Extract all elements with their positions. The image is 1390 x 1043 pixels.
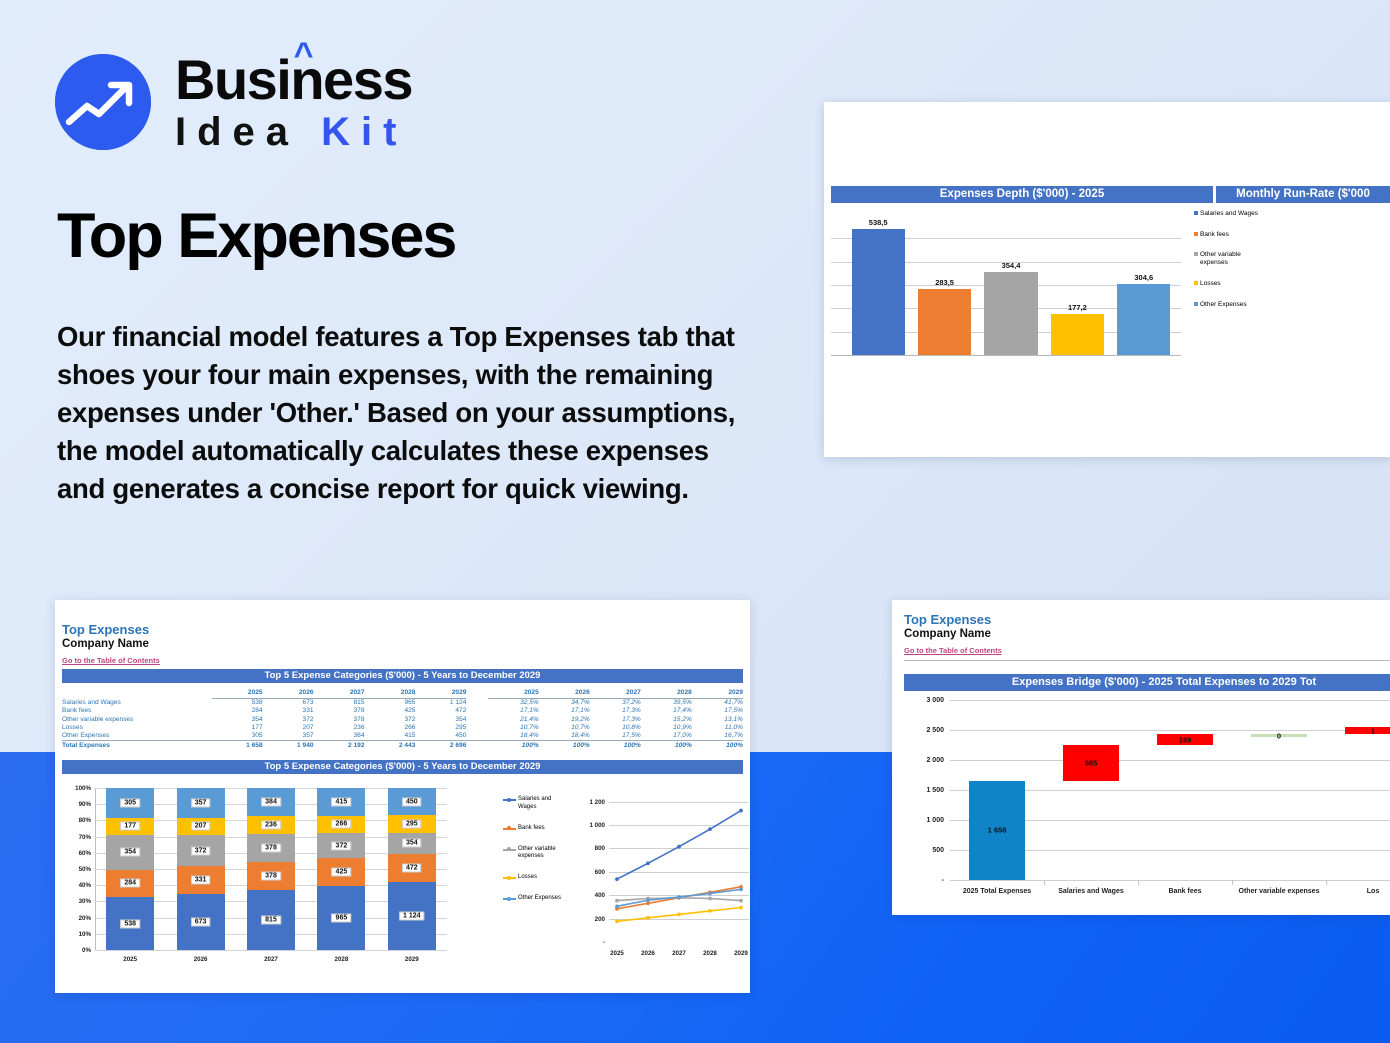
stack-value-label: 472 xyxy=(402,864,422,873)
table-col-year-pct: 2029 xyxy=(692,688,743,698)
total-value: 2 192 xyxy=(314,740,365,749)
row-value: 284 xyxy=(212,707,263,715)
table-total-row: Total Expenses1 6581 9402 1922 4432 6961… xyxy=(62,740,743,749)
x-axis-tick: 2027 xyxy=(247,956,295,963)
row-value: 372 xyxy=(365,715,416,723)
x-axis-tick: Other variable expenses xyxy=(1232,888,1326,895)
bar-value-label: 283,5 xyxy=(918,278,971,287)
x-axis-tick: 2025 xyxy=(106,956,154,963)
y-axis xyxy=(95,788,96,950)
row-value: 207 xyxy=(263,723,314,731)
x-axis-tick: 2026 xyxy=(634,950,662,957)
gridline xyxy=(950,880,1390,881)
row-label: Other Expenses xyxy=(62,731,212,740)
row-pct: 10,7% xyxy=(488,723,539,731)
line-marker xyxy=(739,899,743,903)
stacked-bar-chart: 100%90%80%70%60%50%40%30%20%10%0%5382843… xyxy=(65,780,455,980)
row-pct: 17,3% xyxy=(590,715,641,723)
legend-label: Other variable expenses xyxy=(518,846,563,861)
table-col-year-pct: 2027 xyxy=(590,688,641,698)
row-label: Salaries and Wages xyxy=(62,698,212,707)
y-axis-tick: 2 500 xyxy=(904,727,944,734)
line-marker xyxy=(739,906,743,910)
table-header-row: 2025202620272028202920252026202720282029 xyxy=(62,688,743,698)
stack-value-label: 965 xyxy=(332,914,352,923)
table-col-year-pct: 2026 xyxy=(539,688,590,698)
legend-line xyxy=(503,828,516,830)
stack-value-label: 538 xyxy=(120,919,140,928)
legend-item: Salaries and Wages xyxy=(503,796,563,811)
row-value: 1 124 xyxy=(415,698,466,707)
row-pct: 17,5% xyxy=(590,731,641,740)
waterfall-bar-5 xyxy=(1345,727,1390,734)
x-axis-tick: Los xyxy=(1326,888,1390,895)
stack-value-label: 450 xyxy=(402,797,422,806)
x-axis-tick: Salaries and Wages xyxy=(1044,888,1138,895)
line-marker xyxy=(646,898,650,902)
x-tick-mark xyxy=(1138,880,1139,885)
gridline xyxy=(950,700,1390,701)
row-pct: 21,4% xyxy=(488,715,539,723)
total-label: Total Expenses xyxy=(62,740,212,749)
table-col-year: 2026 xyxy=(263,688,314,698)
row-value: 415 xyxy=(365,731,416,740)
row-label: Losses xyxy=(62,723,212,731)
y-axis-tick: 0% xyxy=(65,947,91,954)
stack-value-label: 372 xyxy=(191,846,211,855)
chart-title-expenses-depth: Expenses Depth ($'000) - 2025 xyxy=(831,186,1213,203)
row-pct: 17,4% xyxy=(641,707,692,715)
bar-value-label: 304,6 xyxy=(1117,273,1170,282)
stack-value-label: 295 xyxy=(402,819,422,828)
stack-value-label: 372 xyxy=(332,841,352,850)
row-pct: 10,8% xyxy=(590,723,641,731)
bar-1 xyxy=(852,229,905,355)
y-axis-tick: 40% xyxy=(65,882,91,889)
stack-value-label: 354 xyxy=(120,848,140,857)
table-col-year: 2025 xyxy=(212,688,263,698)
panel-a-band-row: Expenses Depth ($'000) - 2025 Monthly Ru… xyxy=(831,186,1390,203)
legend-label: Other Expenses xyxy=(518,895,561,903)
line-marker xyxy=(708,909,712,913)
x-tick-mark xyxy=(1326,880,1327,885)
row-pct: 17,5% xyxy=(692,707,743,715)
row-value: 354 xyxy=(415,715,466,723)
stack-value-label: 425 xyxy=(332,867,352,876)
row-pct: 37,2% xyxy=(590,698,641,707)
total-value: 2 443 xyxy=(365,740,416,749)
stack-value-label: 266 xyxy=(332,820,352,829)
legend-swatch xyxy=(1194,211,1198,215)
chart-title-band: Top 5 Expense Categories ($'000) - 5 Yea… xyxy=(62,760,743,774)
table-row: Other variable expenses35437237837235421… xyxy=(62,715,743,723)
chart-title-expenses-bridge: Expenses Bridge ($'000) - 2025 Total Exp… xyxy=(904,674,1390,691)
legend-item: Other variable expenses xyxy=(503,846,563,861)
legend-item: Bank fees xyxy=(503,825,563,833)
total-gap xyxy=(466,740,487,749)
total-pct: 100% xyxy=(590,740,641,749)
bar-value-label: 354,4 xyxy=(984,261,1037,270)
total-value: 1 940 xyxy=(263,740,314,749)
chart-title-monthly-run-rate: Monthly Run-Rate ($'000 xyxy=(1216,186,1390,203)
row-value: 384 xyxy=(314,731,365,740)
legend-line xyxy=(503,849,516,851)
row-pct: 13,1% xyxy=(692,715,743,723)
legend-item: Other variable expenses xyxy=(1194,251,1264,267)
waterfall-value-label: 0 xyxy=(1277,731,1281,740)
table-row: Bank fees28433137842547217,1%17,1%17,3%1… xyxy=(62,707,743,715)
x-tick-mark xyxy=(1232,880,1233,885)
row-gap xyxy=(466,723,487,731)
legend-label: Salaries and Wages xyxy=(518,796,563,811)
total-pct: 100% xyxy=(641,740,692,749)
expense-categories-table: 2025202620272028202920252026202720282029… xyxy=(62,688,743,749)
gridline xyxy=(950,730,1390,731)
legend-label: Bank fees xyxy=(518,825,545,833)
bar-3 xyxy=(984,272,1037,355)
row-value: 425 xyxy=(365,707,416,715)
gridline xyxy=(95,950,447,951)
row-pct: 16,7% xyxy=(692,731,743,740)
y-axis-tick: 60% xyxy=(65,850,91,857)
legend-line xyxy=(503,877,516,879)
y-axis-tick: 100% xyxy=(65,785,91,792)
legend-item: Other Expenses xyxy=(1194,301,1264,309)
waterfall-value-label: 1 xyxy=(1371,726,1375,735)
row-value: 378 xyxy=(314,715,365,723)
row-pct: 17,0% xyxy=(641,731,692,740)
row-value: 673 xyxy=(263,698,314,707)
panel-expenses-bridge: Top Expenses Company Name Go to the Tabl… xyxy=(892,600,1390,915)
legend-line xyxy=(503,799,516,801)
row-pct: 18,4% xyxy=(488,731,539,740)
row-pct: 17,1% xyxy=(539,707,590,715)
bar-value-label: 177,2 xyxy=(1051,303,1104,312)
row-label: Other variable expenses xyxy=(62,715,212,723)
legend-label: Salaries and Wages xyxy=(1200,210,1258,218)
y-axis-tick: 90% xyxy=(65,801,91,808)
row-value: 372 xyxy=(263,715,314,723)
legend-item: Salaries and Wages xyxy=(1194,210,1264,218)
waterfall-value-label: 1 658 xyxy=(988,826,1007,835)
legend-swatch xyxy=(1194,252,1198,256)
line-marker xyxy=(708,827,712,831)
row-pct: 17,1% xyxy=(488,707,539,715)
row-value: 965 xyxy=(365,698,416,707)
stack-value-label: 331 xyxy=(191,875,211,884)
stack-value-label: 673 xyxy=(191,917,211,926)
y-axis-tick: - xyxy=(904,877,944,884)
x-axis-tick: 2029 xyxy=(727,950,750,957)
stack-value-label: 357 xyxy=(191,798,211,807)
y-axis-tick: 1 000 xyxy=(904,817,944,824)
legend-item: Losses xyxy=(1194,280,1264,288)
x-axis-tick: 2025 Total Expenses xyxy=(950,888,1044,895)
legend-item: Other Expenses xyxy=(503,895,563,903)
x-axis-tick: 2028 xyxy=(696,950,724,957)
axis-line xyxy=(831,355,1181,356)
x-axis-tick: Bank fees xyxy=(1138,888,1232,895)
line-chart-legend: Salaries and WagesBank feesOther variabl… xyxy=(503,796,563,916)
row-value: 472 xyxy=(415,707,466,715)
row-pct: 10,9% xyxy=(641,723,692,731)
row-pct: 17,3% xyxy=(590,707,641,715)
table-row: Losses17720723626629510,7%10,7%10,8%10,9… xyxy=(62,723,743,731)
gridline xyxy=(950,760,1390,761)
toc-link[interactable]: Go to the Table of Contents xyxy=(904,646,1002,655)
panel-expenses-depth: Expenses Depth ($'000) - 2025 Monthly Ru… xyxy=(824,102,1390,457)
table-col-gap xyxy=(466,688,487,698)
panel-c-header: Top Expenses Company Name Go to the Tabl… xyxy=(904,612,1002,658)
legend-line xyxy=(503,898,516,900)
y-axis-tick: 30% xyxy=(65,898,91,905)
stack-value-label: 378 xyxy=(261,843,281,852)
row-pct: 32,5% xyxy=(488,698,539,707)
bar-2 xyxy=(918,289,971,355)
line-marker xyxy=(677,913,681,917)
x-axis-tick: 2025 xyxy=(603,950,631,957)
stack-value-label: 236 xyxy=(261,820,281,829)
row-value: 331 xyxy=(263,707,314,715)
y-axis-tick: 80% xyxy=(65,817,91,824)
stack-value-label: 384 xyxy=(261,798,281,807)
line-marker xyxy=(615,919,619,923)
expenses-depth-bar-chart: 538,5283,5354,4177,2304,6 xyxy=(831,207,1181,372)
sheet-title: Top Expenses xyxy=(904,612,1002,627)
row-value: 450 xyxy=(415,731,466,740)
line-marker xyxy=(646,861,650,865)
line-marker xyxy=(646,916,650,920)
line-marker xyxy=(615,899,619,903)
row-value: 815 xyxy=(314,698,365,707)
table-col-year-pct: 2025 xyxy=(488,688,539,698)
line-marker xyxy=(739,809,743,813)
line-marker xyxy=(708,897,712,901)
sheet-title: Top Expenses xyxy=(62,622,160,637)
stack-value-label: 1 124 xyxy=(399,912,425,921)
table-row: Other Expenses30535738441545018,4%18,4%1… xyxy=(62,731,743,740)
x-tick-mark xyxy=(1044,880,1045,885)
divider xyxy=(904,660,1390,661)
legend-swatch xyxy=(1194,281,1198,285)
row-pct: 10,7% xyxy=(539,723,590,731)
row-value: 295 xyxy=(415,723,466,731)
bar-5 xyxy=(1117,284,1170,355)
y-axis-tick: 70% xyxy=(65,834,91,841)
table-title-band: Top 5 Expense Categories ($'000) - 5 Yea… xyxy=(62,669,743,683)
total-value: 2 696 xyxy=(415,740,466,749)
x-axis-tick: 2028 xyxy=(317,956,365,963)
total-pct: 100% xyxy=(692,740,743,749)
table-col-year: 2028 xyxy=(365,688,416,698)
legend-label: Losses xyxy=(518,874,537,882)
row-pct: 19,2% xyxy=(539,715,590,723)
bar-4 xyxy=(1051,314,1104,355)
brand-name-kit: Kit xyxy=(321,110,407,154)
row-gap xyxy=(466,715,487,723)
trend-arrow-circle-icon xyxy=(55,54,151,150)
stack-value-label: 354 xyxy=(402,839,422,848)
row-value: 236 xyxy=(314,723,365,731)
expenses-depth-legend: Salaries and WagesBank feesOther variabl… xyxy=(1194,210,1264,321)
legend-item: Losses xyxy=(503,874,563,882)
row-value: 177 xyxy=(212,723,263,731)
line-marker xyxy=(677,845,681,849)
row-pct: 11,0% xyxy=(692,723,743,731)
row-pct: 41,7% xyxy=(692,698,743,707)
hero-description: Our financial model features a Top Expen… xyxy=(57,318,757,508)
row-pct: 18,4% xyxy=(539,731,590,740)
stack-value-label: 284 xyxy=(120,879,140,888)
y-axis-tick: 3 000 xyxy=(904,697,944,704)
legend-label: Other Expenses xyxy=(1200,301,1247,309)
row-gap xyxy=(466,698,487,707)
total-value: 1 658 xyxy=(212,740,263,749)
row-pct: 34,7% xyxy=(539,698,590,707)
row-value: 357 xyxy=(263,731,314,740)
row-gap xyxy=(466,707,487,715)
y-axis-tick: 1 500 xyxy=(904,787,944,794)
row-gap xyxy=(466,731,487,740)
legend-label: Bank fees xyxy=(1200,231,1229,239)
waterfall-value-label: 189 xyxy=(1179,735,1192,744)
line-marker xyxy=(615,904,619,908)
stack-value-label: 207 xyxy=(191,822,211,831)
page-title: Top Expenses xyxy=(57,200,455,272)
row-value: 538 xyxy=(212,698,263,707)
table-body: Salaries and Wages5386738159651 12432,5%… xyxy=(62,698,743,749)
table-col-label xyxy=(62,688,212,698)
brand-name-line2: Idea xyxy=(175,110,321,154)
expense-trend-line-chart: 1 2001 000800600400200-20252026202720282… xyxy=(575,780,750,980)
x-axis-tick: 2027 xyxy=(665,950,693,957)
line-marker xyxy=(708,892,712,896)
stack-value-label: 415 xyxy=(332,797,352,806)
bar-value-label: 538,5 xyxy=(852,218,905,227)
row-value: 266 xyxy=(365,723,416,731)
company-name: Company Name xyxy=(904,628,1002,640)
stack-value-label: 305 xyxy=(120,798,140,807)
panel-top-5-expense-categories: Top Expenses Company Name Go to the Tabl… xyxy=(55,600,750,993)
y-axis-tick: 20% xyxy=(65,915,91,922)
stack-value-label: 177 xyxy=(120,822,140,831)
y-axis-tick: 500 xyxy=(904,847,944,854)
row-pct: 39,5% xyxy=(641,698,692,707)
table-col-year-pct: 2028 xyxy=(641,688,692,698)
brand-logo: Business ^ Idea Kit xyxy=(55,52,412,152)
table-col-year: 2029 xyxy=(415,688,466,698)
waterfall-value-label: 585 xyxy=(1085,758,1098,767)
row-label: Bank fees xyxy=(62,707,212,715)
legend-label: Losses xyxy=(1200,280,1221,288)
expenses-bridge-waterfall-chart: 3 0002 5002 0001 5001 000500-1 658585189… xyxy=(904,694,1390,899)
x-axis-tick: 2026 xyxy=(177,956,225,963)
y-axis-tick: 50% xyxy=(65,866,91,873)
row-value: 305 xyxy=(212,731,263,740)
total-pct: 100% xyxy=(488,740,539,749)
panel-b-header: Top Expenses Company Name Go to the Tabl… xyxy=(62,622,160,668)
legend-label: Other variable expenses xyxy=(1200,251,1264,267)
line-marker xyxy=(739,887,743,891)
caret-accent-icon: ^ xyxy=(294,38,312,72)
stack-value-label: 815 xyxy=(261,915,281,924)
row-value: 354 xyxy=(212,715,263,723)
total-pct: 100% xyxy=(539,740,590,749)
row-value: 378 xyxy=(314,707,365,715)
legend-swatch xyxy=(1194,302,1198,306)
legend-item: Bank fees xyxy=(1194,231,1264,239)
line-marker xyxy=(615,877,619,881)
row-pct: 15,2% xyxy=(641,715,692,723)
company-name: Company Name xyxy=(62,638,160,650)
y-axis-tick: 2 000 xyxy=(904,757,944,764)
x-axis-tick: 2029 xyxy=(388,956,436,963)
table-col-year: 2027 xyxy=(314,688,365,698)
y-axis-tick: 10% xyxy=(65,931,91,938)
legend-swatch xyxy=(1194,232,1198,236)
line-marker xyxy=(677,895,681,899)
stack-value-label: 378 xyxy=(261,871,281,880)
table-row: Salaries and Wages5386738159651 12432,5%… xyxy=(62,698,743,707)
toc-link[interactable]: Go to the Table of Contents xyxy=(62,656,160,665)
